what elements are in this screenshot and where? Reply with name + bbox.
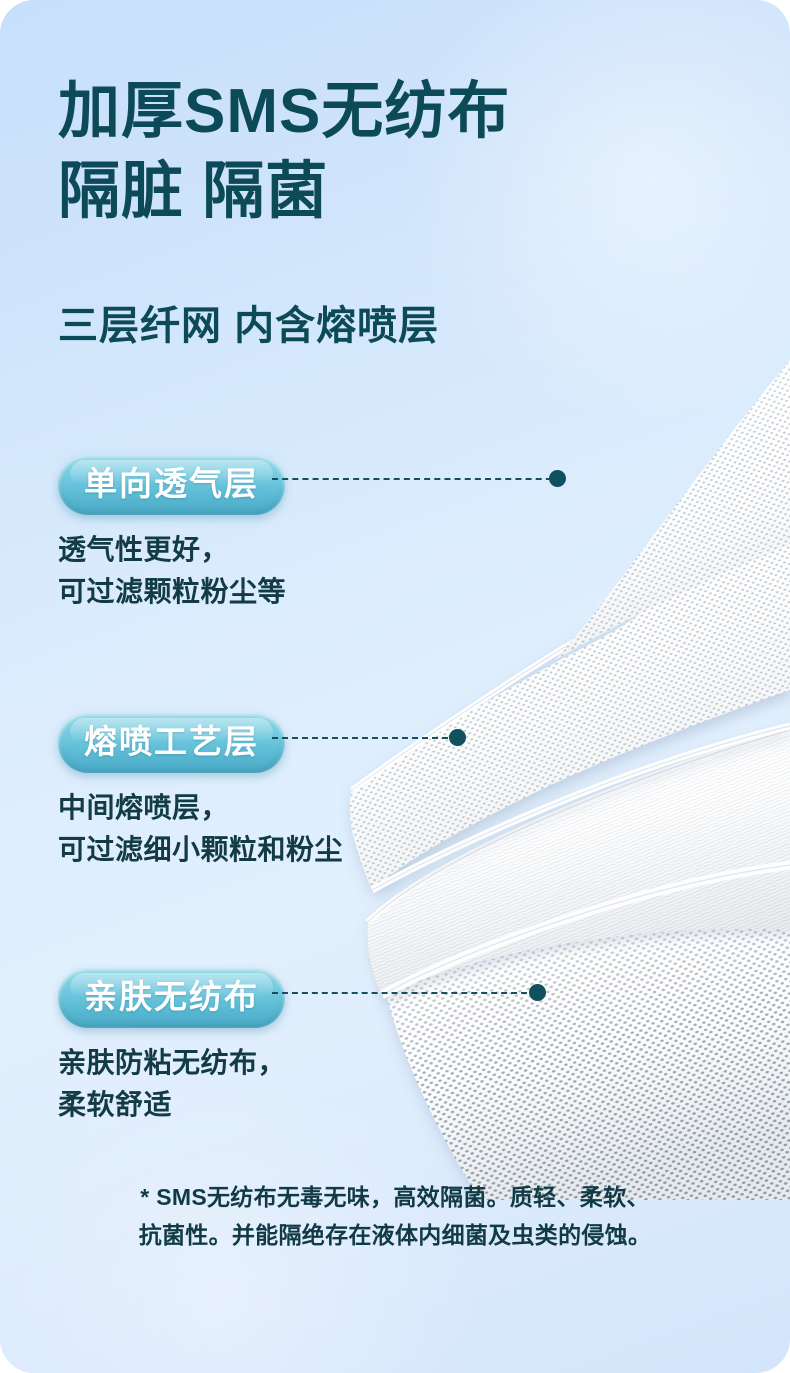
footnote: * SMS无纺布无毒无味，高效隔菌。质轻、柔软、 抗菌性。并能隔绝存在液体内细菌…	[0, 1178, 790, 1254]
leader-dot-2	[449, 729, 466, 746]
footnote-line-2: 抗菌性。并能隔绝存在液体内细菌及虫类的侵蚀。	[0, 1216, 790, 1254]
fabric-sheet-top-right	[555, 360, 790, 660]
badge-layer-2: 熔喷工艺层	[58, 713, 285, 773]
desc-layer-2-line-2: 可过滤细小颗粒和粉尘	[58, 829, 343, 871]
desc-layer-3-line-1: 亲肤防粘无纺布，	[58, 1042, 286, 1084]
desc-layer-3-line-2: 柔软舒适	[58, 1084, 286, 1126]
leader-line-2	[272, 737, 458, 741]
headline-line-1: 加厚SMS无纺布	[58, 72, 718, 152]
footnote-line-1: * SMS无纺布无毒无味，高效隔菌。质轻、柔软、	[0, 1178, 790, 1216]
desc-layer-1-line-1: 透气性更好，	[58, 529, 286, 571]
headline: 加厚SMS无纺布 隔脏 隔菌	[58, 72, 718, 232]
leader-dot-1	[549, 470, 566, 487]
subtitle: 三层纤网 内含熔喷层	[58, 300, 439, 352]
annotation-layer-3: 亲肤无纺布 亲肤防粘无纺布， 柔软舒适	[58, 968, 286, 1126]
badge-layer-1: 单向透气层	[58, 455, 285, 515]
headline-line-2: 隔脏 隔菌	[58, 152, 718, 232]
fabric-layer-top	[350, 370, 790, 890]
leader-line-1	[272, 478, 562, 482]
desc-layer-1-line-2: 可过滤颗粒粉尘等	[58, 571, 286, 613]
fabric-layer-bottom	[385, 890, 790, 1201]
product-infographic-card: 加厚SMS无纺布 隔脏 隔菌 三层纤网 内含熔喷层 单向透气层 透气性更好， 可…	[0, 0, 790, 1373]
leader-line-3	[272, 992, 537, 996]
desc-layer-2-line-1: 中间熔喷层，	[58, 787, 343, 829]
leader-dot-3	[529, 984, 546, 1001]
annotation-layer-1: 单向透气层 透气性更好， 可过滤颗粒粉尘等	[58, 455, 286, 613]
badge-layer-3: 亲肤无纺布	[58, 968, 285, 1028]
fabric-layer-middle	[368, 660, 790, 995]
